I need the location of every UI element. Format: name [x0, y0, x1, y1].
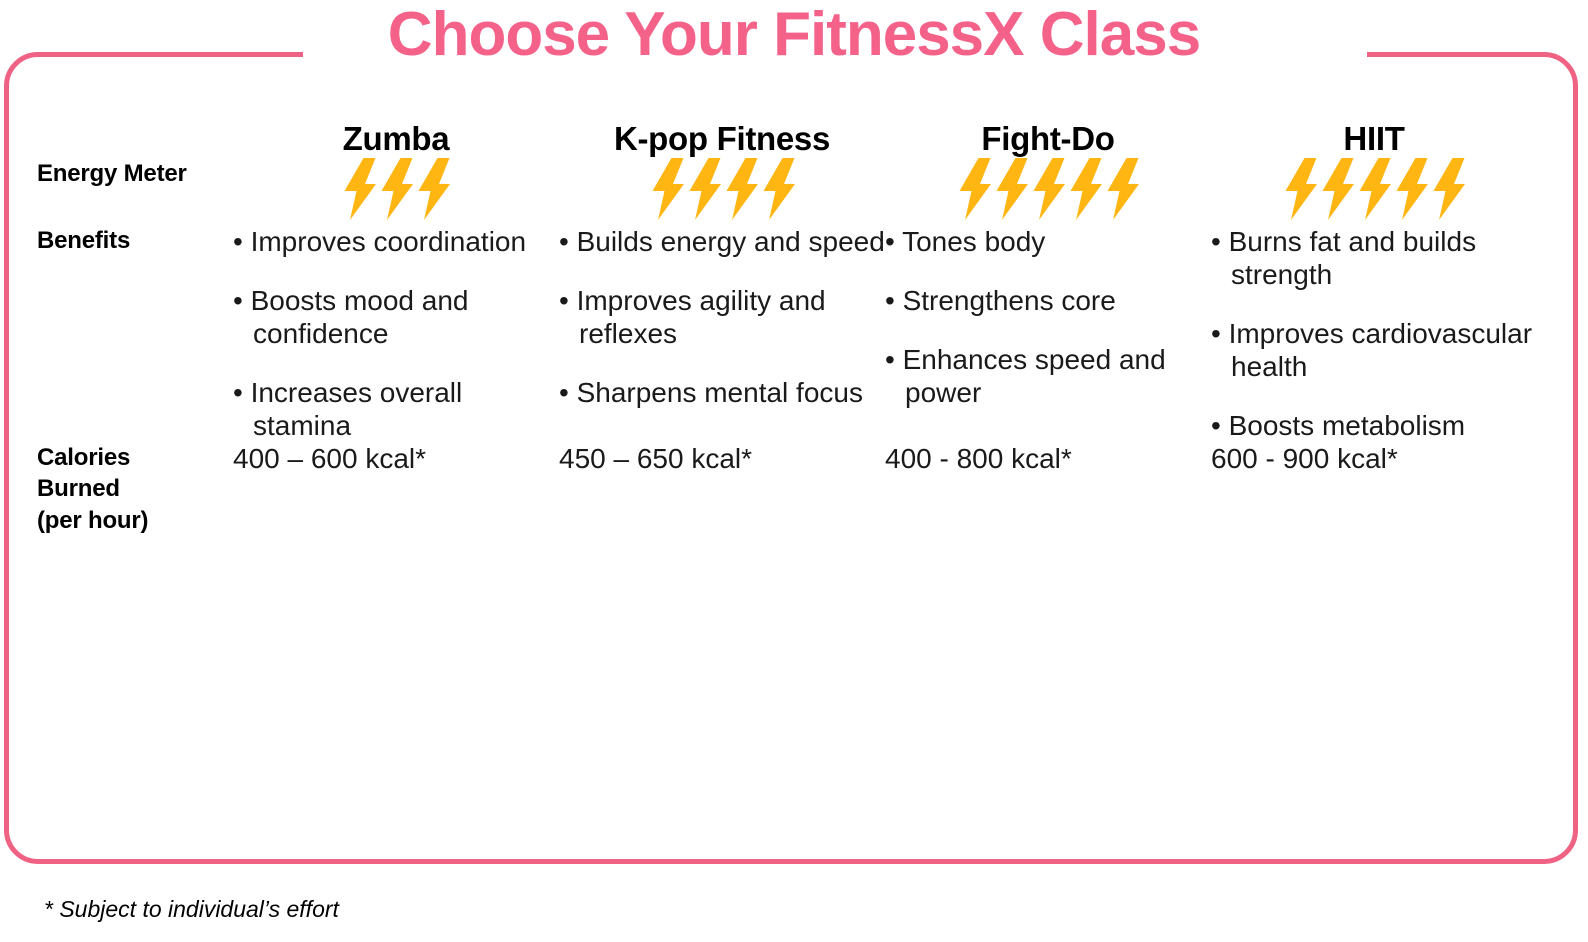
- class-comparison-table: Zumba K-pop Fitness Fight-Do HIIT Energy…: [37, 120, 1537, 562]
- table-row-calories: Calories Burned (per hour) 400 – 600 kca…: [37, 442, 1537, 562]
- lightning-bolt-icon: [1282, 158, 1318, 225]
- calories-fightdo: 400 - 800 kcal*: [885, 442, 1211, 562]
- benefit-list-item: • Boosts metabolism: [1211, 409, 1537, 442]
- lightning-bolt-icon: [993, 158, 1029, 225]
- benefit-list-item: • Strengthens core: [885, 284, 1211, 317]
- benefit-list-item: • Builds energy and speed: [559, 225, 885, 258]
- lightning-bolt-icon: [415, 158, 451, 225]
- benefits-hiit: • Burns fat and builds strength • Improv…: [1211, 225, 1537, 442]
- lightning-bolt-icon: [723, 158, 759, 225]
- table-row-energy-meter: Energy Meter: [37, 158, 1537, 225]
- bolt-group-hiit: [1282, 158, 1466, 225]
- benefits-fightdo: • Tones body • Strengthens core • Enhanc…: [885, 225, 1211, 442]
- table-header-row: Zumba K-pop Fitness Fight-Do HIIT: [37, 120, 1537, 158]
- lightning-bolt-icon: [1393, 158, 1429, 225]
- calories-hiit: 600 - 900 kcal*: [1211, 442, 1537, 562]
- energy-meter-fightdo: [885, 158, 1211, 225]
- column-header-zumba: Zumba: [233, 120, 559, 158]
- bolt-group-fightdo: [956, 158, 1140, 225]
- lightning-bolt-icon: [1319, 158, 1355, 225]
- row-label-calories-line3: (per hour): [37, 505, 233, 536]
- energy-meter-hiit: [1211, 158, 1537, 225]
- calories-zumba: 400 – 600 kcal*: [233, 442, 559, 562]
- benefit-list-item: • Improves agility and reflexes: [559, 284, 885, 350]
- benefits-zumba: • Improves coordination • Boosts mood an…: [233, 225, 559, 442]
- lightning-bolt-icon: [649, 158, 685, 225]
- benefit-list-item: • Burns fat and builds strength: [1211, 225, 1537, 291]
- row-label-calories-line1: Calories: [37, 442, 233, 473]
- lightning-bolt-icon: [341, 158, 377, 225]
- energy-meter-kpop: [559, 158, 885, 225]
- header-corner-blank: [37, 120, 233, 158]
- benefit-list-item: • Boosts mood and confidence: [233, 284, 559, 350]
- column-header-kpop: K-pop Fitness: [559, 120, 885, 158]
- lightning-bolt-icon: [1030, 158, 1066, 225]
- column-header-hiit: HIIT: [1211, 120, 1537, 158]
- lightning-bolt-icon: [956, 158, 992, 225]
- benefit-list-item: • Enhances speed and power: [885, 343, 1211, 409]
- lightning-bolt-icon: [1067, 158, 1103, 225]
- lightning-bolt-icon: [1430, 158, 1466, 225]
- lightning-bolt-icon: [378, 158, 414, 225]
- footnote: * Subject to individual’s effort: [44, 896, 339, 923]
- row-label-calories-line2: Burned: [37, 473, 233, 504]
- row-label-benefits: Benefits: [37, 225, 233, 442]
- row-label-calories: Calories Burned (per hour): [37, 442, 233, 562]
- lightning-bolt-icon: [1104, 158, 1140, 225]
- lightning-bolt-icon: [686, 158, 722, 225]
- lightning-bolt-icon: [760, 158, 796, 225]
- table-row-benefits: Benefits • Improves coordination • Boost…: [37, 225, 1537, 442]
- benefit-list-item: • Improves cardiovascular health: [1211, 317, 1537, 383]
- benefit-list-item: • Sharpens mental focus: [559, 376, 885, 409]
- benefit-list-item: • Improves coordination: [233, 225, 559, 258]
- energy-meter-zumba: [233, 158, 559, 225]
- benefit-list-item: • Tones body: [885, 225, 1211, 258]
- row-label-energy-meter: Energy Meter: [37, 158, 233, 225]
- lightning-bolt-icon: [1356, 158, 1392, 225]
- calories-kpop: 450 – 650 kcal*: [559, 442, 885, 562]
- benefits-kpop: • Builds energy and speed • Improves agi…: [559, 225, 885, 442]
- column-header-fightdo: Fight-Do: [885, 120, 1211, 158]
- bolt-group-zumba: [341, 158, 451, 225]
- bolt-group-kpop: [649, 158, 796, 225]
- page-title: Choose Your FitnessX Class: [0, 4, 1588, 66]
- benefit-list-item: • Increases overall stamina: [233, 376, 559, 442]
